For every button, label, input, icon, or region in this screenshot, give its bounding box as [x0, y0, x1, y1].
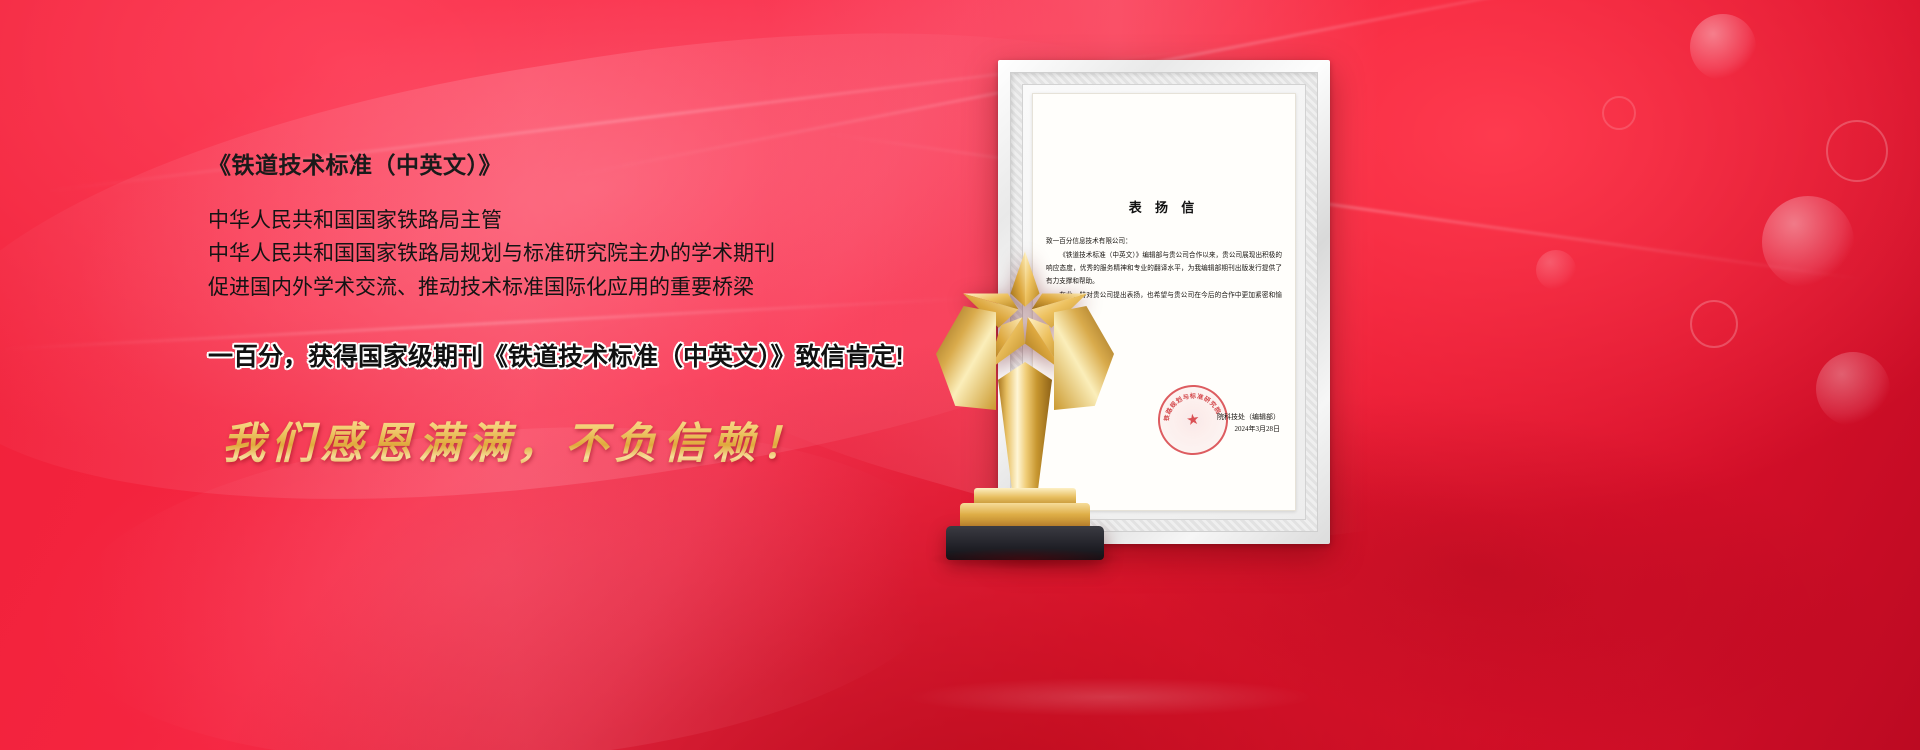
- bokeh-circle: [1690, 14, 1756, 80]
- subtitle-line-2: 中华人民共和国国家铁路局规划与标准研究院主办的学术期刊: [208, 243, 775, 264]
- trophy-star-icon: [930, 248, 1120, 560]
- promo-banner: 《铁道技术标准（中英文）》 中华人民共和国国家铁路局主管 中华人民共和国国家铁路…: [0, 0, 1920, 750]
- signature-date: 2024年3月28日: [1217, 423, 1280, 435]
- bokeh-circle: [1826, 120, 1888, 182]
- certificate-title: 表 扬 信: [1032, 197, 1296, 216]
- banner-headline: 一百分，获得国家级期刊《铁道技术标准（中英文）》致信肯定!: [208, 337, 904, 373]
- trophy-wing-right: [1054, 306, 1114, 410]
- star-icon: ★: [1185, 412, 1200, 429]
- bokeh-circle: [1602, 96, 1636, 130]
- bokeh-circle: [1690, 300, 1738, 348]
- signature-org: 院科技处（编辑部）: [1217, 411, 1280, 423]
- trophy-stem: [998, 362, 1052, 490]
- floor-glow: [830, 670, 1390, 724]
- certificate-salutation: 致一百分信息技术有限公司：: [1046, 235, 1282, 248]
- bokeh-circle: [1762, 196, 1854, 288]
- certificate-signature: 院科技处（编辑部） 2024年3月28日: [1217, 411, 1280, 435]
- subtitle-line-1: 中华人民共和国国家铁路局主管: [208, 210, 502, 231]
- bokeh-circle: [1536, 250, 1576, 290]
- bokeh-circle: [1816, 352, 1890, 426]
- gold-slogan: 我们感恩满满，不负信赖！: [222, 409, 810, 471]
- subtitle-line-3: 促进国内外学术交流、推动技术标准国际化应用的重要桥梁: [208, 277, 754, 298]
- trophy-shadow: [890, 544, 1160, 574]
- trophy-wing-left: [936, 306, 996, 410]
- journal-title: 《铁道技术标准（中英文）》: [208, 146, 502, 180]
